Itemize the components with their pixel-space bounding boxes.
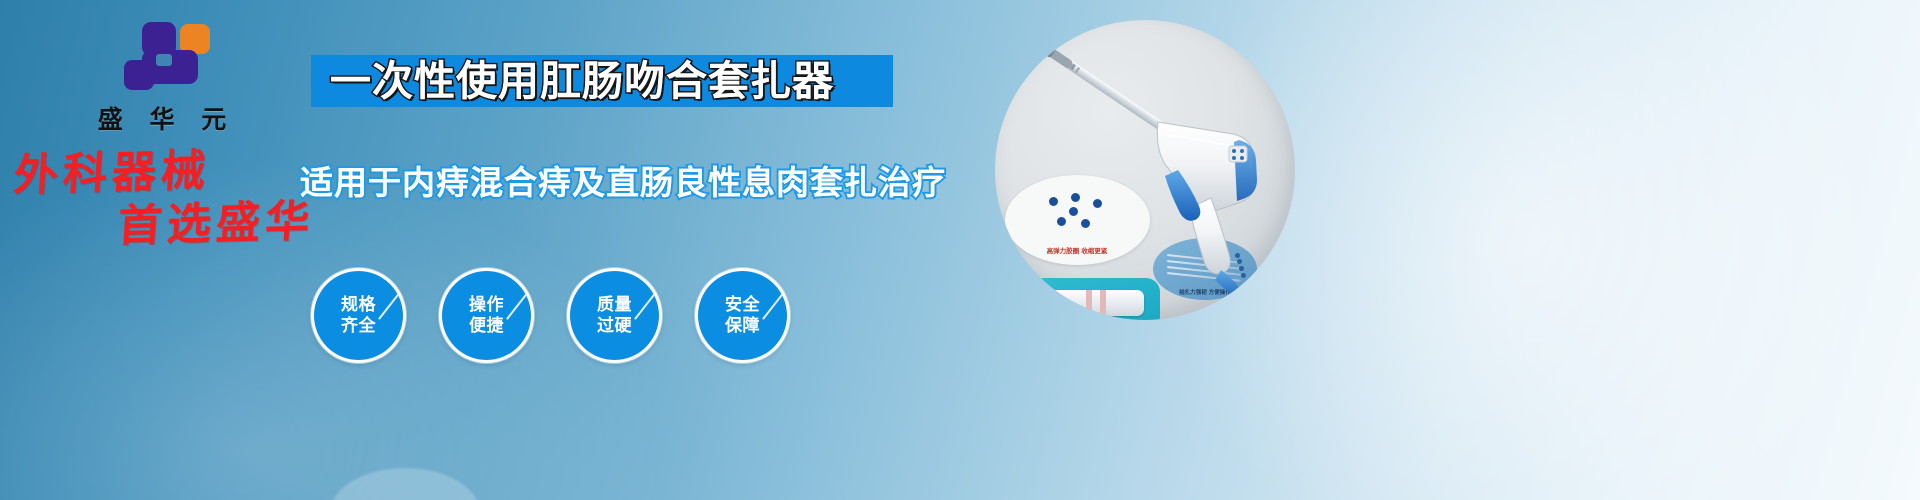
badge-label-line2: 过硬 xyxy=(597,316,632,337)
brand-slogan: 外科器械 首选盛华 xyxy=(14,150,344,246)
product-photo-disc: 高弹力胶圈 收缩更紧 结扎力强韧 方便操作 xyxy=(995,20,1295,320)
badge-label-line1: 安全 xyxy=(725,295,760,316)
badge-label-line2: 保障 xyxy=(725,316,760,337)
logo-mark-icon xyxy=(116,22,208,96)
badge-slash-decoration xyxy=(378,290,402,320)
badge-slash-decoration xyxy=(634,290,658,320)
logo-shape-bottom-left xyxy=(124,60,154,90)
page-subtitle: 适用于内痔混合痔及直肠良性息肉套扎治疗 xyxy=(300,160,920,206)
page-title: 一次性使用肛肠吻合套扎器 xyxy=(330,54,890,108)
product-photo-inner: 高弹力胶圈 收缩更紧 结扎力强韧 方便操作 xyxy=(995,20,1295,320)
feature-badge-safety[interactable]: 安全 保障 xyxy=(695,268,790,363)
badge-slash-decoration xyxy=(762,290,786,320)
promo-banner: 盛 华 元 外科器械 首选盛华 一次性使用肛肠吻合套扎器 一次性使用肛肠吻合套扎… xyxy=(0,0,1920,500)
feature-badge-list: 规格 齐全 操作 便捷 质量 过硬 安全 保障 xyxy=(311,268,790,363)
feature-badge-quality[interactable]: 质量 过硬 xyxy=(567,268,662,363)
feature-badge-operation[interactable]: 操作 便捷 xyxy=(439,268,534,363)
feature-badge-specs[interactable]: 规格 齐全 xyxy=(311,268,406,363)
ligator-device-icon xyxy=(1015,30,1295,310)
slogan-line-1: 外科器械 xyxy=(12,146,345,199)
slogan-line-2: 首选盛华 xyxy=(116,199,345,249)
badge-label-line1: 操作 xyxy=(469,295,504,316)
badge-label-line2: 齐全 xyxy=(341,316,376,337)
logo-wordmark: 盛 华 元 xyxy=(62,100,262,136)
logo-shape-notch xyxy=(156,54,172,66)
badge-slash-decoration xyxy=(506,290,530,320)
badge-label-line1: 质量 xyxy=(597,295,632,316)
badge-label-line1: 规格 xyxy=(341,295,376,316)
brand-logo[interactable]: 盛 华 元 xyxy=(62,22,262,136)
decorative-blob xyxy=(330,468,480,500)
badge-label-line2: 便捷 xyxy=(469,316,504,337)
